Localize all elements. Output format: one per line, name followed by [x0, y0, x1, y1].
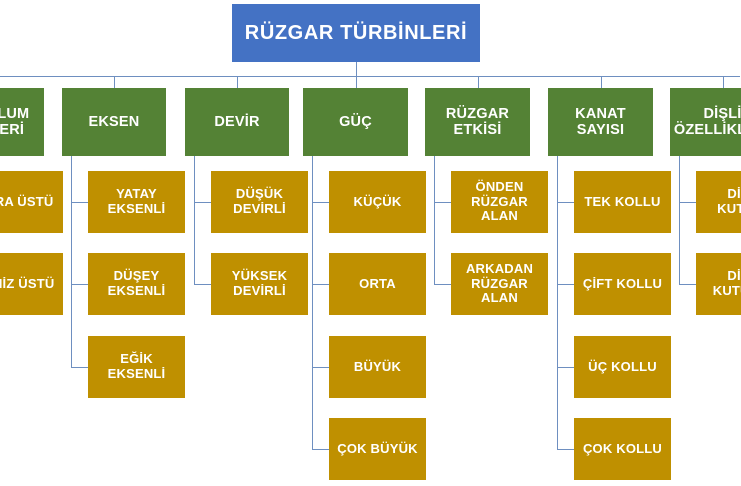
leaf-node-kanat-sayisi-3[interactable]: ÇOK KOLLU — [574, 418, 671, 480]
category-drop-kanat-sayisi — [601, 76, 602, 88]
child-stub-devir-0 — [194, 202, 211, 203]
child-trunk-kanat-sayisi — [557, 156, 558, 449]
leaf-node-guc-2[interactable]: BÜYÜK — [329, 336, 426, 398]
category-drop-eksen — [114, 76, 115, 88]
root-node[interactable]: RÜZGAR TÜRBİNLERİ — [232, 4, 480, 62]
category-node-eksen[interactable]: EKSEN — [62, 88, 166, 156]
leaf-node-kurulum-yerleri-1[interactable]: DENİZ ÜSTÜ — [0, 253, 63, 315]
leaf-node-disli-ozellikleri-1[interactable]: DİŞLİ KUTUSUZ — [696, 253, 741, 315]
leaf-node-guc-0[interactable]: KÜÇÜK — [329, 171, 426, 233]
leaf-node-guc-1[interactable]: ORTA — [329, 253, 426, 315]
category-node-disli-ozellikleri[interactable]: DİŞLİ ÖZELLİKLERİ — [670, 88, 741, 156]
child-stub-eksen-0 — [71, 202, 88, 203]
leaf-node-eksen-1[interactable]: DÜŞEY EKSENLİ — [88, 253, 185, 315]
child-trunk-disli-ozellikleri — [679, 156, 680, 284]
child-trunk-guc — [312, 156, 313, 449]
child-stub-eksen-1 — [71, 284, 88, 285]
root-stem — [356, 62, 357, 76]
leaf-node-kanat-sayisi-1[interactable]: ÇİFT KOLLU — [574, 253, 671, 315]
child-stub-guc-0 — [312, 202, 329, 203]
child-stub-guc-1 — [312, 284, 329, 285]
category-bus — [0, 76, 740, 77]
category-node-kurulum-yerleri[interactable]: KURULUM YERLERİ — [0, 88, 44, 156]
category-node-devir[interactable]: DEVİR — [185, 88, 289, 156]
child-stub-ruzgar-etkisi-0 — [434, 202, 451, 203]
child-stub-devir-1 — [194, 284, 211, 285]
leaf-node-devir-1[interactable]: YÜKSEK DEVİRLİ — [211, 253, 308, 315]
child-trunk-ruzgar-etkisi — [434, 156, 435, 284]
child-stub-guc-3 — [312, 449, 329, 450]
category-drop-disli-ozellikleri — [723, 76, 724, 88]
leaf-node-guc-3[interactable]: ÇOK BÜYÜK — [329, 418, 426, 480]
category-drop-devir — [237, 76, 238, 88]
child-trunk-devir — [194, 156, 195, 284]
leaf-node-kurulum-yerleri-0[interactable]: KARA ÜSTÜ — [0, 171, 63, 233]
leaf-node-eksen-2[interactable]: EĞİK EKSENLİ — [88, 336, 185, 398]
child-stub-disli-ozellikleri-0 — [679, 202, 696, 203]
category-node-guc[interactable]: GÜÇ — [303, 88, 408, 156]
child-trunk-eksen — [71, 156, 72, 367]
category-drop-ruzgar-etkisi — [478, 76, 479, 88]
category-node-ruzgar-etkisi[interactable]: RÜZGAR ETKİSİ — [425, 88, 530, 156]
org-chart-canvas: RÜZGAR TÜRBİNLERİKURULUM YERLERİKARA ÜST… — [0, 0, 741, 486]
leaf-node-devir-0[interactable]: DÜŞÜK DEVİRLİ — [211, 171, 308, 233]
category-node-kanat-sayisi[interactable]: KANAT SAYISI — [548, 88, 653, 156]
child-stub-disli-ozellikleri-1 — [679, 284, 696, 285]
child-stub-kanat-sayisi-3 — [557, 449, 574, 450]
leaf-node-kanat-sayisi-0[interactable]: TEK KOLLU — [574, 171, 671, 233]
child-stub-kanat-sayisi-1 — [557, 284, 574, 285]
child-stub-eksen-2 — [71, 367, 88, 368]
leaf-node-eksen-0[interactable]: YATAY EKSENLİ — [88, 171, 185, 233]
leaf-node-kanat-sayisi-2[interactable]: ÜÇ KOLLU — [574, 336, 671, 398]
leaf-node-ruzgar-etkisi-1[interactable]: ARKADAN RÜZGAR ALAN — [451, 253, 548, 315]
child-stub-guc-2 — [312, 367, 329, 368]
category-drop-guc — [356, 76, 357, 88]
leaf-node-disli-ozellikleri-0[interactable]: DİŞLİ KUTULU — [696, 171, 741, 233]
child-stub-ruzgar-etkisi-1 — [434, 284, 451, 285]
child-stub-kanat-sayisi-2 — [557, 367, 574, 368]
child-stub-kanat-sayisi-0 — [557, 202, 574, 203]
leaf-node-ruzgar-etkisi-0[interactable]: ÖNDEN RÜZGAR ALAN — [451, 171, 548, 233]
